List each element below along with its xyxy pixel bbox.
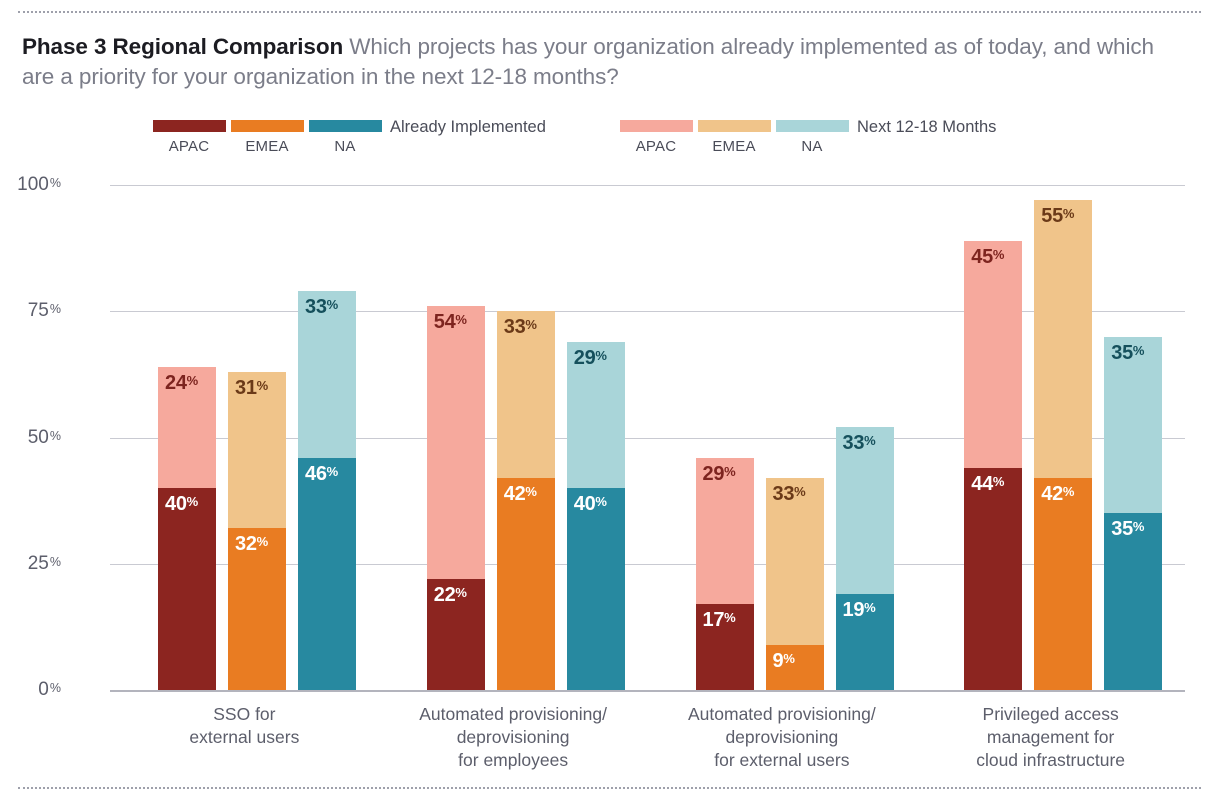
bar-value-label: 29% bbox=[574, 347, 607, 370]
stacked-bar-na[interactable]: 35%35% bbox=[1104, 337, 1162, 691]
bar-segment-implemented[interactable]: 42% bbox=[1034, 478, 1092, 690]
legend-region-label: NA bbox=[306, 138, 384, 155]
legend-region-label: APAC bbox=[150, 138, 228, 155]
bar-value-label: 33% bbox=[773, 483, 806, 506]
bar-segment-next[interactable]: 33% bbox=[836, 427, 894, 594]
stacked-bar-emea[interactable]: 33%9% bbox=[766, 478, 824, 690]
y-tick-value: 0 bbox=[38, 679, 49, 700]
bar-segment-implemented[interactable]: 17% bbox=[696, 604, 754, 690]
legend-group-next: APACEMEANANext 12-18 Months bbox=[617, 120, 851, 155]
bar-segment-next[interactable]: 29% bbox=[696, 458, 754, 604]
bar-segment-implemented[interactable]: 44% bbox=[964, 468, 1022, 690]
legend-item-emea[interactable]: EMEA bbox=[228, 120, 306, 155]
y-tick-label-50: 50% bbox=[0, 427, 61, 449]
gridline-0 bbox=[110, 690, 1185, 692]
y-tick-unit: % bbox=[50, 555, 61, 569]
bar-value-label: 45% bbox=[971, 246, 1004, 269]
y-tick-unit: % bbox=[50, 429, 61, 443]
chart-page: Phase 3 Regional Comparison Which projec… bbox=[0, 0, 1219, 805]
bar-segment-implemented[interactable]: 9% bbox=[766, 645, 824, 690]
category-label-line: deprovisioning bbox=[391, 726, 636, 749]
legend-color-swatch bbox=[309, 120, 382, 132]
bar-value-label: 33% bbox=[305, 296, 338, 319]
category-label-line: for employees bbox=[391, 749, 636, 772]
title-strong: Phase 3 Regional Comparison bbox=[22, 34, 343, 59]
bar-group-2: 54%22%33%42%29%40% bbox=[379, 185, 648, 690]
legend-item-na[interactable]: NA bbox=[306, 120, 384, 155]
bar-segment-next[interactable]: 45% bbox=[964, 241, 1022, 468]
category-label-line: Automated provisioning/ bbox=[660, 703, 905, 726]
legend-item-apac[interactable]: APAC bbox=[617, 120, 695, 155]
bar-value-label: 33% bbox=[504, 316, 537, 339]
bar-segment-implemented[interactable]: 42% bbox=[497, 478, 555, 690]
stacked-bar-apac[interactable]: 24%40% bbox=[158, 367, 216, 690]
y-tick-unit: % bbox=[50, 302, 61, 316]
bar-value-label: 33% bbox=[843, 432, 876, 455]
y-tick-value: 75 bbox=[28, 300, 49, 321]
bar-value-unit: % bbox=[1133, 519, 1144, 534]
category-label-line: SSO for bbox=[122, 703, 367, 726]
y-tick-label-75: 75% bbox=[0, 300, 61, 322]
bar-group-4: 45%44%55%42%35%35% bbox=[916, 185, 1185, 690]
bar-value-label: 42% bbox=[1041, 483, 1074, 506]
bar-value-label: 35% bbox=[1111, 518, 1144, 541]
bar-value-label: 29% bbox=[703, 463, 736, 486]
bar-value-unit: % bbox=[187, 373, 198, 388]
bar-value-unit: % bbox=[327, 464, 338, 479]
legend: APACEMEANAAlready ImplementedAPACEMEANAN… bbox=[0, 120, 1219, 168]
bar-value-unit: % bbox=[595, 348, 606, 363]
legend-region-label: NA bbox=[773, 138, 851, 155]
bar-value-unit: % bbox=[1063, 484, 1074, 499]
category-label-4: Privileged accessmanagement forcloud inf… bbox=[916, 703, 1185, 772]
legend-item-na[interactable]: NA bbox=[773, 120, 851, 155]
bar-segment-implemented[interactable]: 46% bbox=[298, 458, 356, 690]
bar-value-unit: % bbox=[783, 651, 794, 666]
bar-segment-implemented[interactable]: 22% bbox=[427, 579, 485, 690]
bar-value-unit: % bbox=[327, 297, 338, 312]
legend-series-title: Already Implemented bbox=[390, 118, 546, 137]
bar-value-label: 24% bbox=[165, 372, 198, 395]
legend-color-swatch bbox=[231, 120, 304, 132]
legend-swatch-row: APACEMEANA bbox=[617, 120, 851, 155]
legend-region-label: EMEA bbox=[228, 138, 306, 155]
y-tick-unit: % bbox=[50, 176, 61, 190]
bar-value-unit: % bbox=[1063, 206, 1074, 221]
bar-segment-next[interactable]: 33% bbox=[298, 291, 356, 458]
bar-value-unit: % bbox=[455, 312, 466, 327]
bar-value-unit: % bbox=[187, 494, 198, 509]
bar-value-unit: % bbox=[993, 247, 1004, 262]
bar-value-label: 17% bbox=[703, 609, 736, 632]
bar-value-label: 54% bbox=[434, 311, 467, 334]
stacked-bar-na[interactable]: 33%46% bbox=[298, 291, 356, 690]
top-divider bbox=[18, 11, 1201, 13]
bar-value-label: 22% bbox=[434, 584, 467, 607]
legend-series-title: Next 12-18 Months bbox=[857, 118, 996, 137]
bar-segment-next[interactable]: 55% bbox=[1034, 200, 1092, 478]
stacked-bar-na[interactable]: 33%19% bbox=[836, 427, 894, 690]
category-label-line: Automated provisioning/ bbox=[391, 703, 636, 726]
legend-swatch-row: APACEMEANA bbox=[150, 120, 384, 155]
category-label-1: SSO forexternal users bbox=[110, 703, 379, 772]
category-label-line: management for bbox=[928, 726, 1173, 749]
stacked-bar-emea[interactable]: 55%42% bbox=[1034, 200, 1092, 690]
legend-color-swatch bbox=[153, 120, 226, 132]
category-label-line: for external users bbox=[660, 749, 905, 772]
stacked-bar-emea[interactable]: 31%32% bbox=[228, 372, 286, 690]
bar-value-label: 19% bbox=[843, 599, 876, 622]
bar-value-unit: % bbox=[724, 464, 735, 479]
category-axis: SSO forexternal usersAutomated provision… bbox=[110, 703, 1185, 772]
bar-value-unit: % bbox=[864, 600, 875, 615]
bar-value-unit: % bbox=[525, 317, 536, 332]
bar-value-unit: % bbox=[525, 484, 536, 499]
page-title: Phase 3 Regional Comparison Which projec… bbox=[22, 32, 1162, 92]
bar-segment-next[interactable]: 54% bbox=[427, 306, 485, 579]
category-label-line: deprovisioning bbox=[660, 726, 905, 749]
chart-area: 100%75%50%25%0% 24%40%31%32%33%46%54%22%… bbox=[0, 168, 1219, 708]
legend-color-swatch bbox=[776, 120, 849, 132]
legend-region-label: EMEA bbox=[695, 138, 773, 155]
category-label-line: cloud infrastructure bbox=[928, 749, 1173, 772]
category-label-3: Automated provisioning/deprovisioningfor… bbox=[648, 703, 917, 772]
bar-value-label: 32% bbox=[235, 533, 268, 556]
y-tick-label-25: 25% bbox=[0, 553, 61, 575]
y-tick-label-0: 0% bbox=[0, 679, 61, 701]
bar-value-unit: % bbox=[794, 484, 805, 499]
bar-value-label: 46% bbox=[305, 463, 338, 486]
stacked-bar-emea[interactable]: 33%42% bbox=[497, 311, 555, 690]
category-label-2: Automated provisioning/deprovisioningfor… bbox=[379, 703, 648, 772]
legend-item-apac[interactable]: APAC bbox=[150, 120, 228, 155]
bar-value-label: 40% bbox=[165, 493, 198, 516]
bar-value-label: 42% bbox=[504, 483, 537, 506]
bar-value-unit: % bbox=[257, 534, 268, 549]
bar-value-label: 55% bbox=[1041, 205, 1074, 228]
bar-value-unit: % bbox=[864, 433, 875, 448]
legend-group-implemented: APACEMEANAAlready Implemented bbox=[150, 120, 384, 155]
bar-segment-implemented[interactable]: 40% bbox=[567, 488, 625, 690]
legend-item-emea[interactable]: EMEA bbox=[695, 120, 773, 155]
bar-value-label: 31% bbox=[235, 377, 268, 400]
y-tick-value: 50 bbox=[28, 427, 49, 448]
legend-region-label: APAC bbox=[617, 138, 695, 155]
bottom-divider bbox=[18, 787, 1201, 789]
stacked-bar-apac[interactable]: 29%17% bbox=[696, 458, 754, 690]
y-tick-unit: % bbox=[50, 681, 61, 695]
category-label-line: external users bbox=[122, 726, 367, 749]
legend-color-swatch bbox=[620, 120, 693, 132]
bar-value-unit: % bbox=[257, 378, 268, 393]
bar-value-unit: % bbox=[993, 474, 1004, 489]
bar-segment-implemented[interactable]: 35% bbox=[1104, 513, 1162, 690]
bar-value-label: 44% bbox=[971, 473, 1004, 496]
y-tick-value: 100 bbox=[17, 174, 49, 195]
bar-segment-next[interactable]: 31% bbox=[228, 372, 286, 529]
bar-segment-next[interactable]: 29% bbox=[567, 342, 625, 488]
stacked-bar-na[interactable]: 29%40% bbox=[567, 342, 625, 690]
bar-segment-implemented[interactable]: 32% bbox=[228, 528, 286, 690]
bar-segment-next[interactable]: 33% bbox=[497, 311, 555, 478]
bar-value-unit: % bbox=[724, 610, 735, 625]
stacked-bar-apac[interactable]: 45%44% bbox=[964, 241, 1022, 690]
bar-value-label: 9% bbox=[773, 650, 795, 673]
category-label-line: Privileged access bbox=[928, 703, 1173, 726]
bar-segment-implemented[interactable]: 19% bbox=[836, 594, 894, 690]
bar-segment-implemented[interactable]: 40% bbox=[158, 488, 216, 690]
bar-value-unit: % bbox=[455, 585, 466, 600]
bar-group-3: 29%17%33%9%33%19% bbox=[648, 185, 917, 690]
bar-value-label: 40% bbox=[574, 493, 607, 516]
bar-segment-next[interactable]: 24% bbox=[158, 367, 216, 488]
bar-value-unit: % bbox=[1133, 343, 1144, 358]
bar-segment-next[interactable]: 33% bbox=[766, 478, 824, 645]
bar-value-label: 35% bbox=[1111, 342, 1144, 365]
bar-value-unit: % bbox=[595, 494, 606, 509]
bar-groups: 24%40%31%32%33%46%54%22%33%42%29%40%29%1… bbox=[110, 185, 1185, 690]
legend-color-swatch bbox=[698, 120, 771, 132]
bar-segment-next[interactable]: 35% bbox=[1104, 337, 1162, 514]
bar-group-1: 24%40%31%32%33%46% bbox=[110, 185, 379, 690]
stacked-bar-apac[interactable]: 54%22% bbox=[427, 306, 485, 690]
y-tick-label-100: 100% bbox=[0, 174, 61, 196]
y-tick-value: 25 bbox=[28, 553, 49, 574]
